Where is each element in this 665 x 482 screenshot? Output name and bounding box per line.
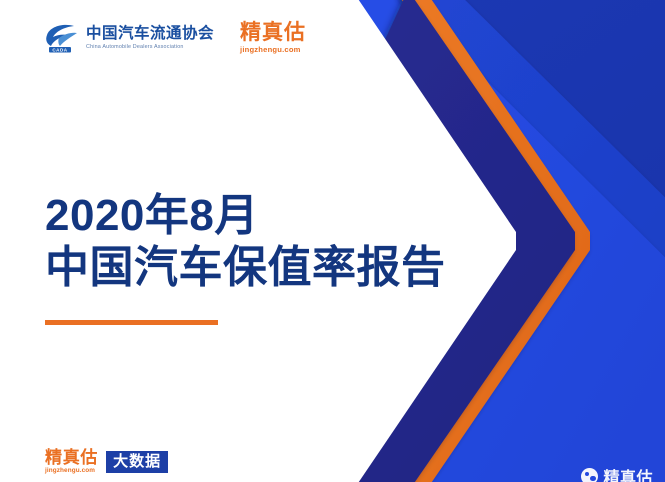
footer-brand-domain: jingzhengu.com <box>45 468 98 474</box>
cover-title-block: 2020年8月 中国汽车保值率报告 <box>45 190 446 294</box>
jingzhengu-domain: jingzhengu.com <box>240 46 306 54</box>
title-line-subject: 中国汽车保值率报告 <box>45 242 446 294</box>
header-logo-row: CADA 中国汽车流通协会 China Automobile Dealers A… <box>45 22 306 54</box>
cada-logo: CADA 中国汽车流通协会 China Automobile Dealers A… <box>45 22 214 54</box>
cada-name-en: China Automobile Dealers Association <box>86 44 214 50</box>
footer-brand-word: 精真估 jingzhengu.com <box>45 449 98 474</box>
cada-swoosh-icon: CADA <box>45 22 79 54</box>
title-underline-rule <box>45 320 218 325</box>
watermark-label: 精真估 <box>603 464 653 482</box>
footer-brand-lockup: 精真估 jingzhengu.com 大数据 <box>45 449 168 474</box>
watermark: 精真估 <box>581 464 653 482</box>
footer-brand-cn: 精真估 <box>45 449 98 466</box>
jingzhengu-circle-icon <box>581 468 598 482</box>
bigdata-badge: 大数据 <box>106 451 168 473</box>
jingzhengu-name-cn: 精真估 <box>240 22 306 43</box>
title-line-date: 2020年8月 <box>45 190 446 242</box>
cada-logo-text: 中国汽车流通协会 China Automobile Dealers Associ… <box>86 26 214 50</box>
jingzhengu-logo: 精真估 jingzhengu.com <box>240 22 306 54</box>
svg-text:CADA: CADA <box>52 47 67 52</box>
cada-name-cn: 中国汽车流通协会 <box>86 26 214 42</box>
slide-cover: CADA 中国汽车流通协会 China Automobile Dealers A… <box>0 0 665 482</box>
